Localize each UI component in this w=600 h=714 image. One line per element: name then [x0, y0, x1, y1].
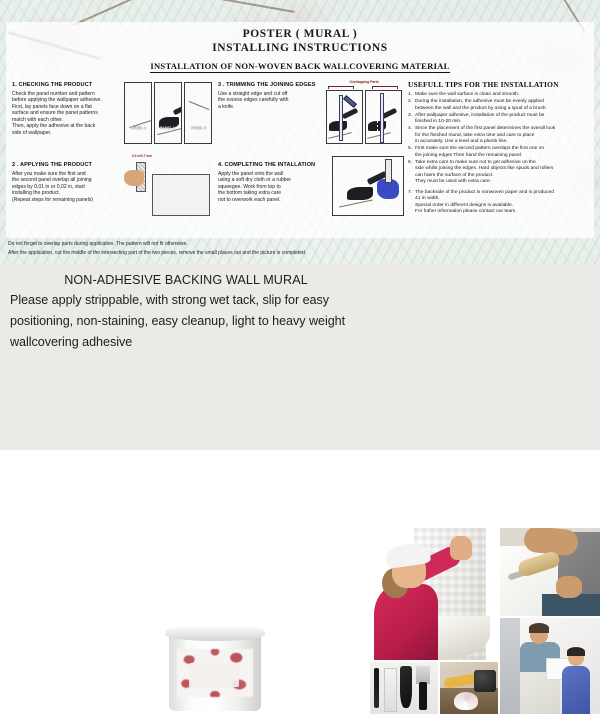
tip-item: 1. Make sure the wall surface is clean a…: [408, 92, 594, 98]
overlap-bracket-left: [328, 86, 354, 89]
step-1-body: Check the panel number and pattern befor…: [12, 91, 120, 137]
step-2-line: (Repeat steps for remaining panels): [12, 197, 120, 204]
bucket-lid: [165, 625, 265, 641]
tip-number: 4.: [408, 126, 415, 145]
useful-tips-section: USEFULL TIPS FOR THE INSTALLATION 1. Mak…: [408, 80, 594, 216]
photo-collage: [370, 528, 600, 714]
step-2-line: installing the product.: [12, 190, 120, 197]
panel-label: PANEL 1: [131, 126, 146, 130]
tip-text: During the installation, the adhesive mu…: [415, 99, 594, 112]
poster-title-line-2: INSTALLING INSTRUCTIONS: [6, 41, 594, 55]
step-2-applying-the-product: 2 . APPLYING THE PRODUCT After you make …: [12, 162, 120, 203]
tip-item: 3. After wallpaper adhesive, installatio…: [408, 113, 594, 126]
step-2-line: edges by 0,01 in or 0,02 in, start: [12, 184, 120, 191]
door-frame: [500, 618, 520, 714]
tip-line: between the wall and the product by usin…: [415, 106, 594, 112]
poster-subtitle: INSTALLATION OF NON-WOVEN BACK WALLCOVER…: [150, 61, 449, 73]
step-1-line: Then, apply the adhesive at the back: [12, 123, 120, 130]
tip-number: 2.: [408, 99, 415, 112]
boy-body: [562, 666, 590, 714]
tip-line: in accurately. Use a level and a plumb l…: [415, 139, 594, 145]
hand-illustration: [124, 170, 144, 186]
step-2-illustration: 0.3 in/0.7 mm: [124, 156, 212, 218]
photo-hands-with-roller: [500, 528, 600, 616]
mural-panel-thumbnail: [332, 156, 404, 216]
paste-bucket: [474, 670, 496, 692]
tip-number: 5.: [408, 146, 415, 159]
wallpaper-roll: [454, 692, 478, 710]
overlapping-parts-label: Overlapping Parts: [326, 80, 402, 84]
mural-panel-thumbnail: [365, 90, 402, 144]
tip-line: the joining edges Then hand the remainin…: [415, 153, 594, 159]
steps-grid: 1. CHECKING THE PRODUCT Check the panel …: [6, 80, 594, 238]
wallpaper-sheet-illustration: [152, 174, 210, 216]
wallpaper-brush-icon: [384, 668, 397, 712]
step-3-body: Use a straight edge and cut off the exce…: [218, 91, 322, 111]
product-body-line: wallcovering adhesive: [10, 332, 362, 353]
tip-item: 7. The backside of the product is nonwov…: [408, 190, 594, 215]
boy-hair: [567, 647, 585, 656]
product-description-text: NON-ADHESIVE BACKING WALL MURAL Please a…: [0, 270, 372, 353]
step-2-line: After you make sure the first and: [12, 171, 120, 178]
tip-text: After wallpaper adhesive, installation o…: [415, 113, 594, 126]
instructions-panel: POSTER ( MURAL ) INSTALLING INSTRUCTIONS…: [6, 22, 594, 238]
step-3-title: 3 . TRIMMING THE JOINING EDGES: [218, 82, 322, 88]
step-4-line: not to overwork each panel.: [218, 197, 328, 204]
step-4-title: 4. COMPLETING THE INTALLATION: [218, 162, 328, 168]
overlap-bracket-right: [372, 86, 398, 89]
bucket-label-center: [189, 663, 239, 687]
straight-edge-ruler: [380, 93, 384, 143]
step-3-trimming-the-joining-edges: 3 . TRIMMING THE JOINING EDGES Use a str…: [218, 82, 322, 110]
mural-panel-thumbnail: PANEL 1: [124, 82, 152, 144]
note-line: After the application, cut the middle of…: [8, 249, 438, 258]
step-2-title: 2 . APPLYING THE PRODUCT: [12, 162, 120, 168]
squeegee-icon: [385, 159, 392, 183]
woman-shirt: [374, 584, 438, 660]
step-2-line: the second panel overlap all joining: [12, 177, 120, 184]
step-1-line: before applying the wallpaper adhesive.: [12, 97, 120, 104]
step-1-checking-the-product: 1. CHECKING THE PRODUCT Check the panel …: [12, 82, 120, 137]
tip-text: The backside of the product is nonwoven …: [415, 190, 594, 215]
step-4-line: using a soft dry cloth or a rubber: [218, 177, 328, 184]
straight-edge-ruler: [339, 95, 343, 141]
product-body-line: Please apply strippable, with strong wet…: [10, 290, 362, 311]
scraper-handle-icon: [419, 682, 427, 710]
title-block: POSTER ( MURAL ) INSTALLING INSTRUCTIONS…: [6, 22, 594, 74]
step-3-line: the excess edges carefully with: [218, 97, 322, 104]
mural-panel-thumbnail: PANEL 3: [184, 82, 212, 144]
cut-line: [377, 97, 378, 141]
tip-number: 7.: [408, 190, 415, 215]
step-4-completing-the-installation: 4. COMPLETING THE INTALLATION Apply the …: [218, 162, 328, 203]
photo-rolls-and-paste: [440, 662, 498, 714]
step-1-triptych-illustration: PANEL 1 PANEL 2 PANEL 3: [124, 82, 212, 144]
smoothing-brush-icon: [374, 668, 379, 708]
man-hair: [529, 623, 549, 633]
tip-item: 6. Take extra care to make sure not to g…: [408, 160, 594, 185]
blossom-branch-decoration: [215, 0, 294, 13]
tip-line: They must be used with extra care.: [415, 179, 594, 185]
tips-title: USEFULL TIPS FOR THE INSTALLATION: [408, 80, 594, 89]
photo-woman-applying-mural: [370, 528, 498, 660]
tip-line: For futher information please contact ou…: [415, 209, 594, 215]
tip-number: 6.: [408, 160, 415, 185]
tip-item: 2. During the installation, the adhesive…: [408, 99, 594, 112]
photo-man-and-boy: [500, 618, 600, 714]
product-heading: NON-ADHESIVE BACKING WALL MURAL: [10, 270, 362, 290]
step-1-line: First, lay panels face down on a flat: [12, 104, 120, 111]
tip-text: Take extra care to make sure not to get …: [415, 160, 594, 185]
step-2-body: After you make sure the first and the se…: [12, 171, 120, 204]
step-1-title: 1. CHECKING THE PRODUCT: [12, 82, 120, 88]
step-1-line: side of wallpaper.: [12, 130, 120, 137]
tip-item: 5. First make sure the second pattern ov…: [408, 146, 594, 159]
tip-line: Make sure the wall surface is clean and …: [415, 92, 594, 98]
panel-label: PANEL 2: [160, 126, 175, 130]
tip-text: Make sure the wall surface is clean and …: [415, 92, 594, 98]
step-3-line: a knife.: [218, 104, 322, 111]
mural-panel-thumbnail: PANEL 2: [154, 82, 182, 144]
tip-number: 1.: [408, 92, 415, 98]
step-3-illustration: [326, 90, 402, 144]
photo-tools: [370, 662, 438, 714]
measure-label: 0.3 in/0.7 mm: [132, 154, 152, 158]
worker-hand: [556, 576, 582, 598]
tip-number: 3.: [408, 113, 415, 126]
woman-hand: [450, 536, 472, 560]
mural-panel-thumbnail: [326, 90, 363, 144]
note-line: Do not forget to overlap parts during ap…: [8, 240, 438, 249]
step-1-line: match with each other.: [12, 117, 120, 124]
step-4-line: squeegee. Work from top to: [218, 184, 328, 191]
tip-item: 4. Since the placement of the first pane…: [408, 126, 594, 145]
product-body-line: positioning, non-staining, easy cleanup,…: [10, 311, 362, 332]
product-description-section: NON-ADHESIVE BACKING WALL MURAL Please a…: [0, 264, 600, 450]
instruction-sheet-background: POSTER ( MURAL ) INSTALLING INSTRUCTIONS…: [0, 0, 600, 264]
tip-text: Since the placement of the first panel d…: [415, 126, 594, 145]
step-4-line: Apply the panel onto the wall: [218, 171, 328, 178]
step-1-line: Check the panel number and pattern: [12, 91, 120, 98]
step-4-illustration: [332, 156, 404, 216]
step-4-body: Apply the panel onto the wall using a so…: [218, 171, 328, 204]
panel-label: PANEL 3: [191, 126, 206, 130]
tip-text: First make sure the second pattern overl…: [415, 146, 594, 159]
step-1-line: surface and ensure the panel patterns: [12, 110, 120, 117]
adhesive-bucket-image: [163, 619, 267, 714]
smoother-blade-icon: [400, 666, 412, 708]
tip-line: finished in 10-20 min.: [415, 119, 594, 125]
step-3-line: Use a straight edge and cut off: [218, 91, 322, 98]
poster-title-line-1: POSTER ( MURAL ): [6, 28, 594, 41]
application-notes: Do not forget to overlap parts during ap…: [8, 240, 438, 257]
knife-icon: [343, 95, 357, 108]
step-4-line: the bottom taking extra care: [218, 190, 328, 197]
